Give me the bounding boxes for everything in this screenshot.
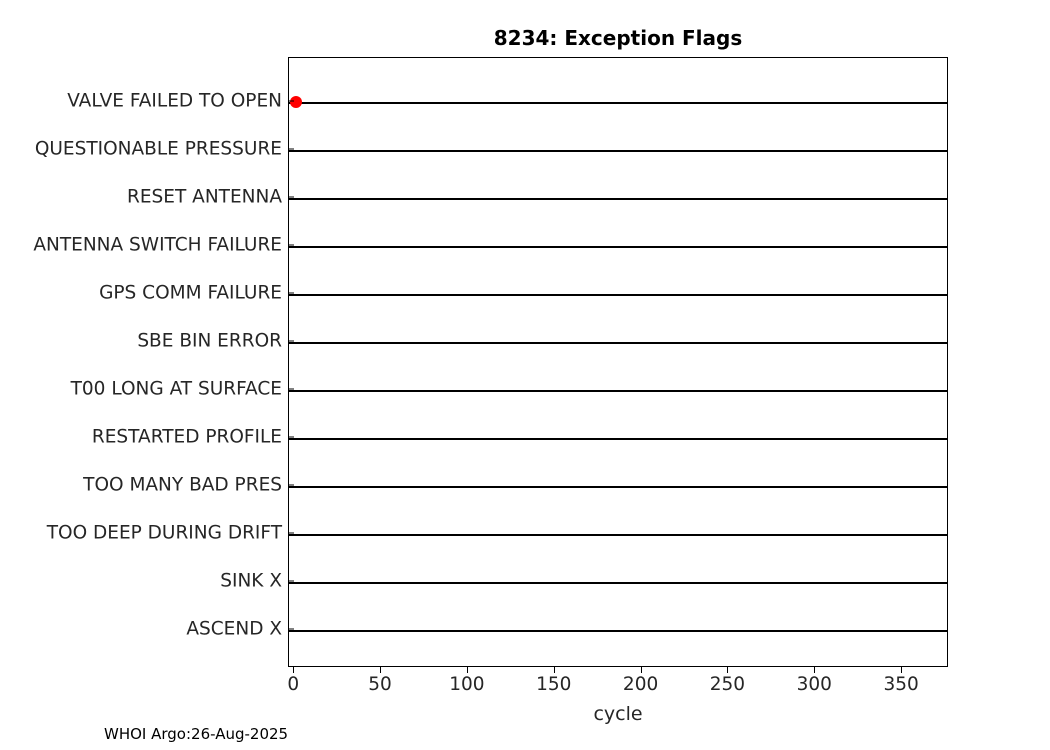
x-tick-mark (380, 667, 381, 673)
x-tick-label: 300 (774, 674, 854, 695)
x-tick-label: 100 (427, 674, 507, 695)
exception-flags-figure: 8234: Exception Flags VALVE FAILED TO OP… (0, 0, 1050, 750)
x-tick-label: 150 (514, 674, 594, 695)
x-tick-mark (554, 667, 555, 673)
x-tick-mark (641, 667, 642, 673)
x-tick-label: 200 (601, 674, 681, 695)
x-tick-label: 0 (253, 674, 333, 695)
x-tick-mark (293, 667, 294, 673)
x-tick-mark (727, 667, 728, 673)
footer-attribution: WHOI Argo:26-Aug-2025 (104, 725, 288, 743)
x-tick-mark (814, 667, 815, 673)
x-tick-mark (901, 667, 902, 673)
x-tick-label: 50 (340, 674, 420, 695)
x-tick-label: 350 (861, 674, 941, 695)
x-tick-label: 250 (687, 674, 767, 695)
x-axis-label: cycle (288, 703, 948, 725)
x-axis: 050100150200250300350 (0, 0, 1050, 750)
x-tick-mark (467, 667, 468, 673)
